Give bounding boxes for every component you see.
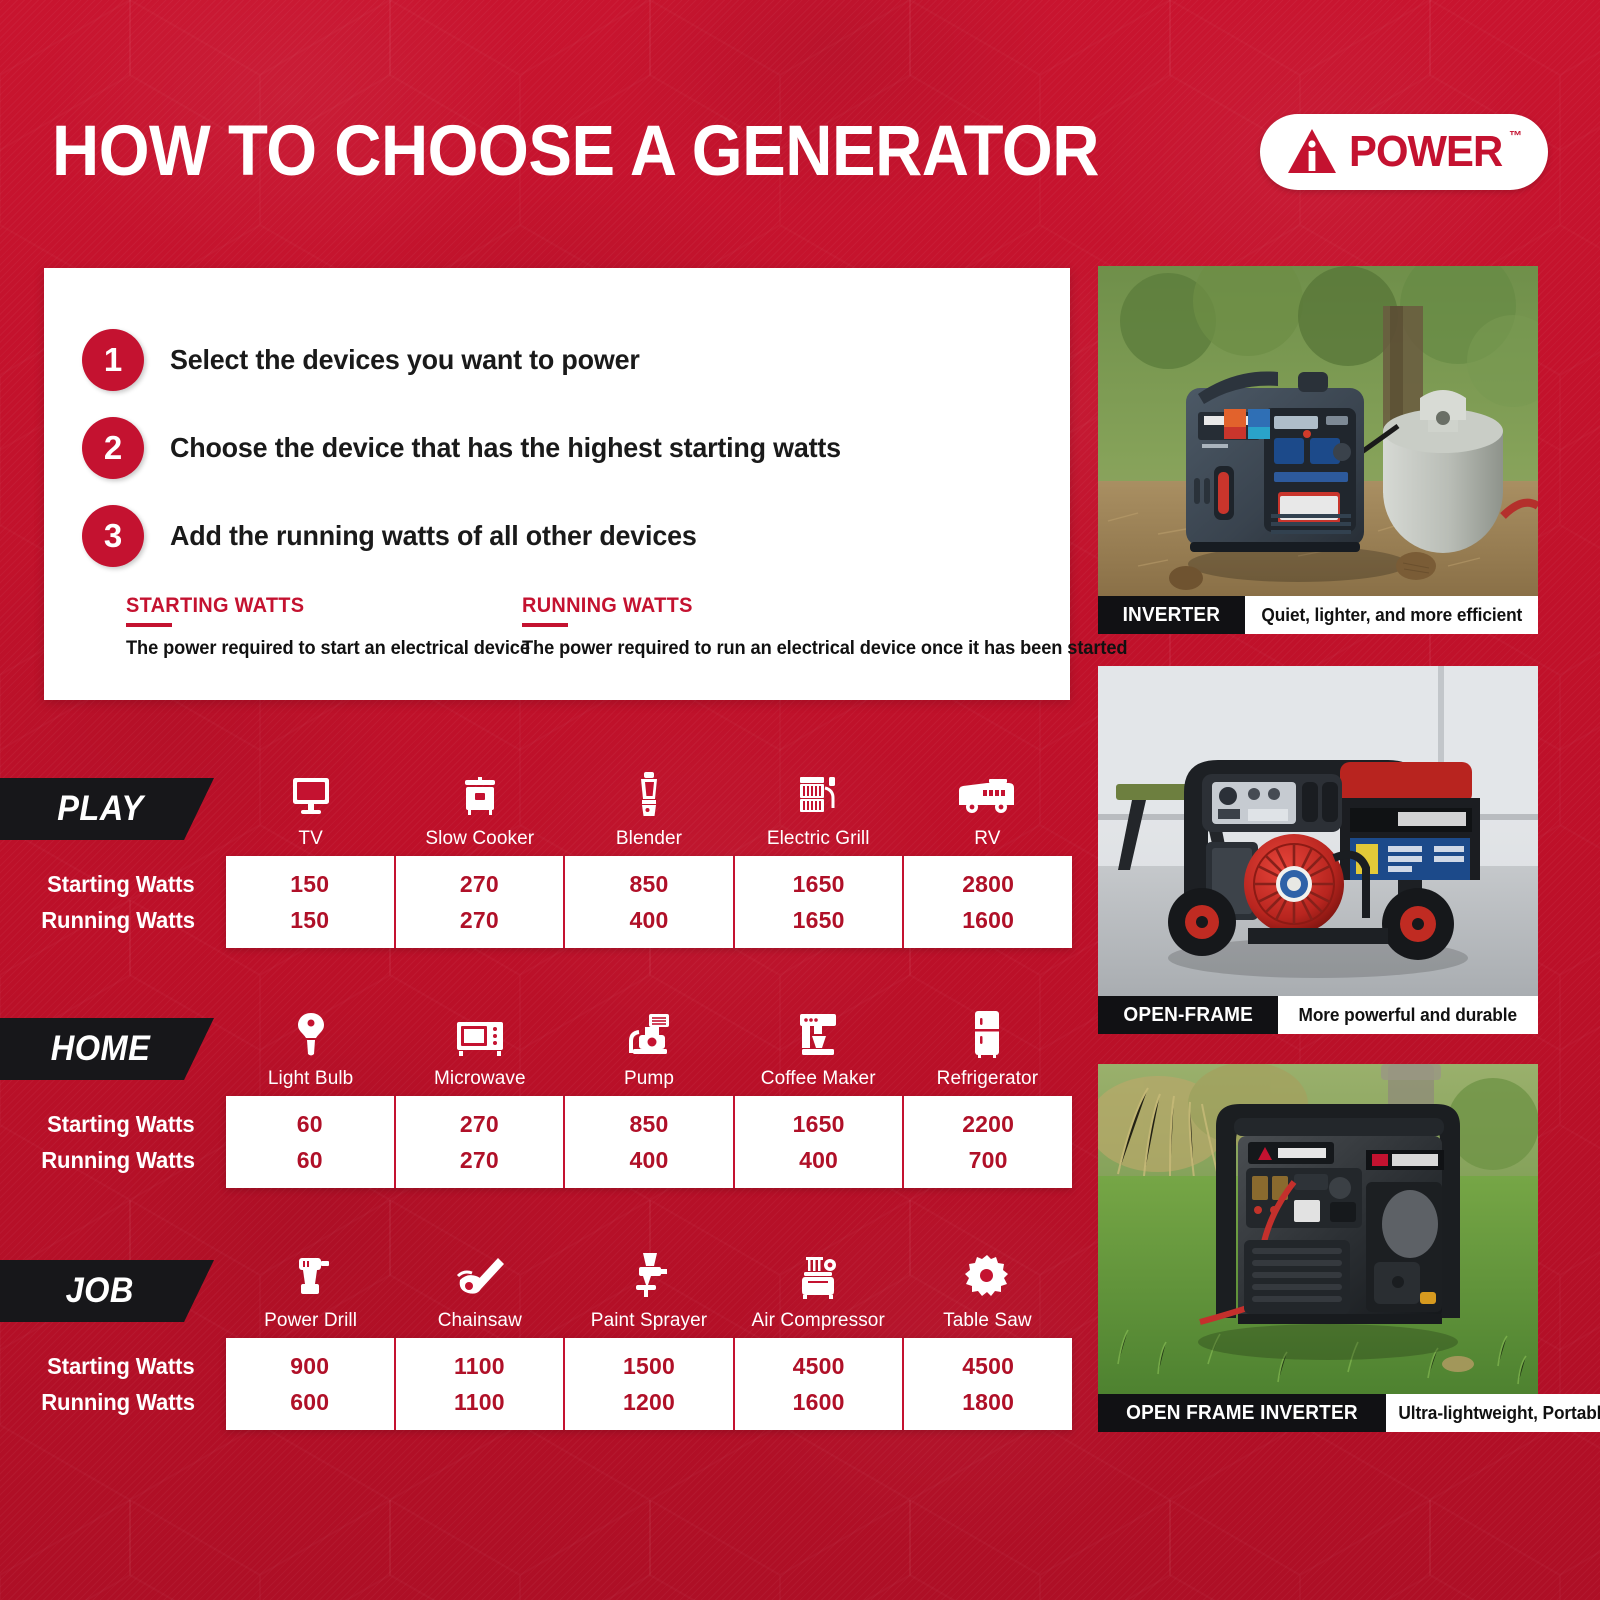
watt-table-play: Starting Watts Running Watts 150 150 270… <box>0 856 1072 948</box>
step-item: 3 Add the running watts of all other dev… <box>82 492 1070 580</box>
watt-column: 850 400 <box>565 1096 735 1188</box>
photo-description: Quiet, lighter, and more efficient <box>1245 596 1538 634</box>
steps-card: 1 Select the devices you want to power 2… <box>44 268 1070 700</box>
definition-underline <box>126 623 172 627</box>
photo-description-label: More powerful and durable <box>1299 1005 1517 1026</box>
watt-column: 270 270 <box>396 1096 566 1188</box>
photo-description-label: Ultra-lightweight, Portable <box>1398 1403 1600 1424</box>
device-cell: Pump <box>564 1000 733 1090</box>
starting-watts-label: Starting Watts <box>47 866 194 902</box>
running-watts-value: 270 <box>460 902 499 938</box>
device-cell: Air Compressor <box>734 1242 903 1332</box>
pump-icon <box>623 1008 675 1058</box>
category-tab-play: PLAY <box>0 778 214 840</box>
watt-values-table: 900 600 1100 1100 1500 1200 4500 1600 45… <box>226 1338 1072 1430</box>
trademark-symbol: ™ <box>1509 128 1522 143</box>
product-card-open-frame: OPEN-FRAME More powerful and durable <box>1098 666 1538 1034</box>
watt-column: 4500 1600 <box>735 1338 905 1430</box>
starting-watts-value: 150 <box>290 866 329 902</box>
page-title: HOW TO CHOOSE A GENERATOR <box>52 116 1099 188</box>
watt-column: 1650 1650 <box>735 856 905 948</box>
device-label: Chainsaw <box>438 1310 522 1332</box>
brand-logo-text: POWER <box>1349 127 1502 177</box>
device-cell: Electric Grill <box>734 760 903 850</box>
starting-watts-value: 4500 <box>793 1348 845 1384</box>
step-text: Choose the device that has the highest s… <box>170 432 841 464</box>
device-cell: TV <box>226 760 395 850</box>
photo-tag-label: OPEN-FRAME <box>1123 1004 1253 1027</box>
infographic-page: HOW TO CHOOSE A GENERATOR POWER ™ 1 Sele… <box>0 0 1600 1600</box>
watt-column: 4500 1800 <box>904 1338 1072 1430</box>
device-cell: Paint Sprayer <box>564 1242 733 1332</box>
device-cell: Chainsaw <box>395 1242 564 1332</box>
step-item: 1 Select the devices you want to power <box>82 316 1070 404</box>
running-watts-label: Running Watts <box>41 1142 195 1178</box>
starting-watts-value: 270 <box>460 866 499 902</box>
table-saw-icon <box>964 1250 1010 1300</box>
device-label: Blender <box>616 828 682 850</box>
device-label: Light Bulb <box>268 1068 354 1090</box>
running-watts-value: 1800 <box>962 1384 1014 1420</box>
device-label: Pump <box>624 1068 674 1090</box>
photo-tag-label: OPEN FRAME INVERTER <box>1126 1402 1358 1425</box>
running-watts-value: 400 <box>629 1142 668 1178</box>
starting-watts-value: 900 <box>290 1348 329 1384</box>
microwave-icon <box>454 1008 506 1058</box>
photo-tag: INVERTER <box>1098 596 1245 634</box>
running-watts-value: 60 <box>297 1142 323 1178</box>
running-watts-value: 1600 <box>962 902 1014 938</box>
device-cell: Microwave <box>395 1000 564 1090</box>
device-header-row-job: Power Drill Chainsaw <box>226 1242 1072 1332</box>
device-cell: Coffee Maker <box>734 1000 903 1090</box>
blender-icon <box>627 768 671 818</box>
step-text: Add the running watts of all other devic… <box>170 520 697 552</box>
photo-description: Ultra-lightweight, Portable <box>1386 1394 1600 1432</box>
refrigerator-icon <box>972 1008 1002 1058</box>
running-watts-value: 1100 <box>454 1384 505 1420</box>
device-header-row-play: TV Slow Cooker <box>226 760 1072 850</box>
watt-column: 1500 1200 <box>565 1338 735 1430</box>
starting-watts-value: 1650 <box>793 866 845 902</box>
tv-icon <box>289 768 333 818</box>
watt-column: 270 270 <box>396 856 566 948</box>
photo-description: More powerful and durable <box>1278 996 1538 1034</box>
product-photo-open-frame-inverter <box>1098 1064 1538 1394</box>
product-card-open-frame-inverter: OPEN FRAME INVERTER Ultra-lightweight, P… <box>1098 1064 1538 1432</box>
definition-title: RUNNING WATTS <box>522 594 1121 618</box>
running-watts-value: 1650 <box>793 902 845 938</box>
watt-row-labels: Starting Watts Running Watts <box>0 1096 226 1188</box>
step-number-badge: 2 <box>82 417 144 479</box>
device-cell: Blender <box>564 760 733 850</box>
running-watts-label: Running Watts <box>41 902 195 938</box>
steps-list: 1 Select the devices you want to power 2… <box>44 268 1070 580</box>
product-card-inverter: INVERTER Quiet, lighter, and more effici… <box>1098 266 1538 634</box>
rv-icon <box>957 768 1017 818</box>
watt-column: 2800 1600 <box>904 856 1072 948</box>
electric-grill-icon <box>794 768 842 818</box>
photo-tag: OPEN-FRAME <box>1098 996 1278 1034</box>
device-label: TV <box>298 828 322 850</box>
running-watts-value: 270 <box>460 1142 499 1178</box>
step-number-badge: 1 <box>82 329 144 391</box>
watt-column: 60 60 <box>226 1096 396 1188</box>
device-cell: Power Drill <box>226 1242 395 1332</box>
device-cell: Table Saw <box>903 1242 1072 1332</box>
watt-values-table: 60 60 270 270 850 400 1650 400 2200 70 <box>226 1096 1072 1188</box>
starting-watts-value: 1500 <box>623 1348 675 1384</box>
definition-title: STARTING WATTS <box>126 594 502 618</box>
step-item: 2 Choose the device that has the highest… <box>82 404 1070 492</box>
starting-watts-value: 2800 <box>962 866 1014 902</box>
device-label: Refrigerator <box>937 1068 1039 1090</box>
device-cell: Slow Cooker <box>395 760 564 850</box>
starting-watts-value: 1100 <box>454 1348 505 1384</box>
definition-starting-watts: STARTING WATTS The power required to sta… <box>126 594 522 660</box>
watt-column: 2200 700 <box>904 1096 1072 1188</box>
light-bulb-icon <box>294 1008 328 1058</box>
product-photo-inverter <box>1098 266 1538 596</box>
device-label: RV <box>974 828 1000 850</box>
starting-watts-value: 4500 <box>962 1348 1014 1384</box>
watt-table-job: Starting Watts Running Watts 900 600 110… <box>0 1338 1072 1430</box>
watt-column: 150 150 <box>226 856 396 948</box>
category-tab-label: HOME <box>50 1029 150 1069</box>
slow-cooker-icon <box>458 768 502 818</box>
product-photo-open-frame <box>1098 666 1538 996</box>
device-label: Air Compressor <box>752 1310 885 1332</box>
starting-watts-value: 270 <box>460 1106 499 1142</box>
device-cell: Refrigerator <box>903 1000 1072 1090</box>
running-watts-value: 400 <box>799 1142 838 1178</box>
starting-watts-value: 850 <box>629 866 668 902</box>
starting-watts-value: 60 <box>297 1106 323 1142</box>
definition-running-watts: RUNNING WATTS The power required to run … <box>522 594 1153 660</box>
watt-column: 1650 400 <box>735 1096 905 1188</box>
starting-watts-value: 850 <box>629 1106 668 1142</box>
device-cell: Light Bulb <box>226 1000 395 1090</box>
running-watts-value: 600 <box>290 1384 329 1420</box>
running-watts-value: 150 <box>290 902 329 938</box>
device-label: Power Drill <box>264 1310 357 1332</box>
paint-sprayer-icon <box>627 1250 671 1300</box>
category-tab-job: JOB <box>0 1260 214 1322</box>
photo-caption: OPEN-FRAME More powerful and durable <box>1098 996 1538 1034</box>
running-watts-value: 1200 <box>623 1384 675 1420</box>
page-header: HOW TO CHOOSE A GENERATOR POWER ™ <box>52 104 1548 200</box>
photo-caption: OPEN FRAME INVERTER Ultra-lightweight, P… <box>1098 1394 1538 1432</box>
brand-logo: POWER ™ <box>1260 114 1548 190</box>
starting-watts-value: 1650 <box>793 1106 845 1142</box>
starting-watts-label: Starting Watts <box>47 1106 194 1142</box>
starting-watts-value: 2200 <box>962 1106 1014 1142</box>
category-tab-home: HOME <box>0 1018 214 1080</box>
device-header-row-home: Light Bulb <box>226 1000 1072 1090</box>
chainsaw-icon <box>454 1250 506 1300</box>
watt-values-table: 150 150 270 270 850 400 1650 1650 2800 <box>226 856 1072 948</box>
category-tab-label: PLAY <box>57 789 143 829</box>
watt-table-home: Starting Watts Running Watts 60 60 270 2… <box>0 1096 1072 1188</box>
running-watts-value: 700 <box>969 1142 1008 1178</box>
definition-underline <box>522 623 568 627</box>
running-watts-label: Running Watts <box>41 1384 195 1420</box>
starting-watts-label: Starting Watts <box>47 1348 194 1384</box>
device-label: Slow Cooker <box>425 828 534 850</box>
photo-caption: INVERTER Quiet, lighter, and more effici… <box>1098 596 1538 634</box>
running-watts-value: 1600 <box>793 1384 845 1420</box>
watt-column: 850 400 <box>565 856 735 948</box>
definition-body: The power required to run an electrical … <box>522 638 1127 660</box>
photo-description-label: Quiet, lighter, and more efficient <box>1261 605 1522 626</box>
watt-column: 900 600 <box>226 1338 396 1430</box>
definitions-row: STARTING WATTS The power required to sta… <box>126 594 1030 660</box>
step-number-badge: 3 <box>82 505 144 567</box>
watt-column: 1100 1100 <box>396 1338 566 1430</box>
power-drill-icon <box>289 1250 333 1300</box>
a-ipower-triangle-icon <box>1286 127 1338 177</box>
photo-tag: OPEN FRAME INVERTER <box>1098 1394 1386 1432</box>
watt-row-labels: Starting Watts Running Watts <box>0 856 226 948</box>
category-tab-label: JOB <box>66 1271 134 1311</box>
device-label: Microwave <box>434 1068 526 1090</box>
air-compressor-icon <box>794 1250 842 1300</box>
device-label: Table Saw <box>943 1310 1032 1332</box>
photo-tag-label: INVERTER <box>1123 604 1221 627</box>
watt-row-labels: Starting Watts Running Watts <box>0 1338 226 1430</box>
coffee-maker-icon <box>796 1008 840 1058</box>
definition-body: The power required to start an electrica… <box>126 638 506 660</box>
running-watts-value: 400 <box>629 902 668 938</box>
device-label: Coffee Maker <box>761 1068 876 1090</box>
device-cell: RV <box>903 760 1072 850</box>
device-label: Paint Sprayer <box>591 1310 707 1332</box>
step-text: Select the devices you want to power <box>170 344 640 376</box>
device-label: Electric Grill <box>767 828 870 850</box>
